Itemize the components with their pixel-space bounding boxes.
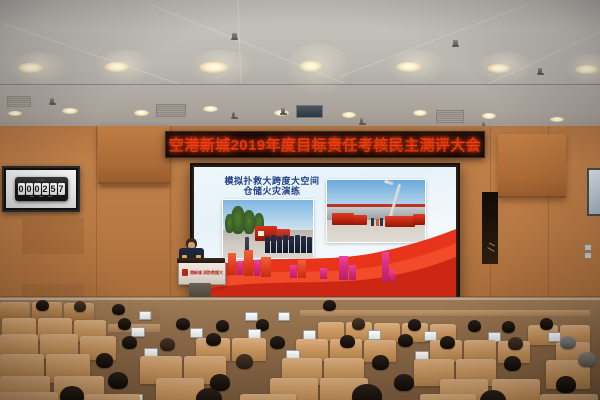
audience-head (176, 318, 190, 330)
wall-soffit (498, 134, 566, 198)
ceiling-seam (470, 20, 600, 93)
slide-footer-ribbon (194, 167, 456, 299)
skyline-building (237, 261, 243, 275)
aisle (150, 300, 160, 320)
audience-seating (0, 300, 600, 400)
podium-top-surface (177, 258, 225, 263)
skyline-building (339, 256, 348, 280)
ceiling-vent (156, 104, 186, 117)
audience-head (122, 336, 137, 349)
skyline-building (390, 270, 395, 282)
audience-head (236, 354, 253, 369)
counter-foot (30, 196, 34, 198)
name-card (190, 328, 203, 338)
ceiling-downlight (396, 62, 422, 72)
counter-digit: 0 (34, 183, 41, 195)
audience-head (468, 320, 481, 332)
audience-head (216, 320, 229, 332)
wall-soffit (98, 126, 170, 184)
flip-counter: COUNT 0 0 0 2 5 7 (15, 177, 68, 202)
wall-socket[interactable] (584, 244, 592, 251)
skyline-building (382, 252, 389, 282)
skyline-building (261, 257, 271, 277)
audience-head (440, 336, 455, 349)
seat[interactable] (240, 394, 296, 400)
ceiling-downlight (62, 108, 78, 114)
name-card (245, 312, 258, 321)
ceiling-downlight (8, 111, 22, 116)
audience-head (398, 334, 413, 347)
skyline-building (320, 268, 327, 279)
podium-sign-text: 空港新城 消防救援大队 (190, 268, 223, 277)
audience-head (508, 337, 523, 350)
sprinkler-head (453, 40, 458, 47)
audience-head (270, 336, 285, 349)
seat[interactable] (540, 394, 598, 400)
audience-head (556, 376, 576, 393)
name-card (278, 312, 290, 321)
name-card (548, 332, 561, 342)
counter-digit: 7 (58, 183, 65, 195)
counter-foot (39, 196, 43, 198)
skyline-building (244, 250, 253, 276)
ceiling-downlight (18, 63, 44, 73)
audience-head (504, 356, 521, 371)
skyline-building (349, 265, 356, 280)
audience-head (502, 321, 515, 333)
ceiling-seam (150, 4, 345, 84)
audience-head (323, 300, 336, 311)
ceiling-seam (238, 0, 242, 96)
ceiling-downlight (575, 65, 599, 74)
podium: 空港新城 消防救援大队 (178, 262, 226, 285)
ceiling-downlight (487, 64, 511, 73)
doorway[interactable] (482, 192, 498, 264)
seat[interactable] (0, 392, 58, 400)
ceiling-vent (7, 96, 31, 107)
audience-head (408, 319, 421, 331)
led-banner: 空港新城2019年度目标责任考核民主测评大会 (165, 131, 485, 158)
counter-screen: COUNT 0 0 0 2 5 7 (6, 170, 76, 208)
audience-head (108, 372, 128, 389)
audience-head (118, 318, 131, 330)
sprinkler-head (50, 98, 54, 104)
podium-base (189, 283, 211, 297)
audience-head (352, 318, 365, 330)
audience-head (60, 386, 84, 400)
wall-mounted-display (587, 168, 600, 216)
ceiling (0, 0, 600, 132)
ceiling-vent (436, 110, 464, 123)
ceiling-display-panel (296, 105, 323, 118)
audience-head (74, 301, 86, 312)
led-scanline-overlay (166, 132, 484, 157)
audience-head-capped (578, 352, 596, 367)
stage-edge (0, 296, 600, 298)
ceiling-seam (0, 22, 180, 85)
audience-head (206, 333, 221, 346)
audience-head (540, 318, 553, 330)
counter-digit: 0 (18, 183, 25, 195)
sprinkler-head (538, 68, 542, 74)
audience-head (112, 304, 125, 315)
wall-counter-monitor: COUNT 0 0 0 2 5 7 (2, 166, 80, 212)
audience-head (340, 335, 355, 348)
skyline-building (228, 253, 236, 275)
name-card (368, 330, 381, 340)
ceiling-downlight (199, 62, 229, 73)
audience-head (96, 353, 113, 368)
front-desk (300, 310, 590, 316)
audience-head (372, 355, 389, 370)
sprinkler-head (232, 112, 235, 117)
counter-foot (48, 196, 52, 198)
audience-head (352, 384, 382, 400)
ceiling-downlight (134, 110, 149, 116)
podium-emblem (182, 269, 188, 276)
audience-head (36, 300, 49, 311)
counter-digit: 5 (50, 183, 57, 195)
ceiling-downlight (550, 117, 564, 122)
ceiling-downlight (342, 112, 356, 118)
audience-head (394, 374, 414, 391)
counter-digit-group: 0 0 0 2 5 7 (18, 183, 65, 195)
counter-digit: 0 (26, 183, 33, 195)
seat[interactable] (420, 394, 476, 400)
sprinkler-head (281, 108, 285, 114)
counter-label: COUNT (36, 180, 45, 182)
skyline-building (298, 260, 306, 278)
name-card (131, 327, 145, 337)
ceiling-downlight (104, 62, 130, 72)
audience-head-capped (560, 336, 576, 349)
counter-digit: 2 (42, 183, 49, 195)
ceiling-downlight (203, 106, 218, 112)
wall-socket[interactable] (584, 252, 592, 259)
ceiling-downlight (482, 113, 496, 119)
slide-surface: 模拟扑救大跨度大空间 仓储火灾演练 (194, 167, 456, 299)
wall-shadow-patch (22, 218, 84, 254)
seat[interactable] (84, 394, 140, 400)
projection-screen: 模拟扑救大跨度大空间 仓储火灾演练 (190, 163, 460, 303)
skyline-building (290, 265, 297, 278)
skyline-building (254, 260, 260, 276)
audience-head (160, 338, 175, 351)
sprinkler-head (232, 33, 237, 40)
sprinkler-head (360, 118, 363, 123)
counter-base (30, 196, 52, 198)
conference-hall-photo: COUNT 0 0 0 2 5 7 空港新城2019年度目标责任考核民主测评大会 (0, 0, 600, 400)
ceiling-downlight (413, 110, 427, 116)
ceiling-downlight (299, 61, 323, 72)
